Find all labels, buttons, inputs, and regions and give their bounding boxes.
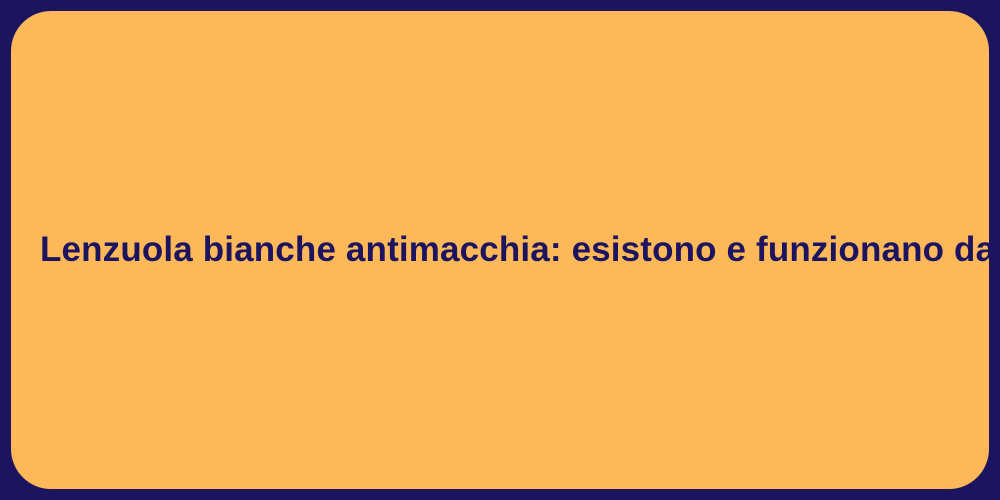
content-card: Lenzuola bianche antimacchia: esistono e… [11,11,989,489]
banner-frame: Lenzuola bianche antimacchia: esistono e… [0,0,1000,500]
page-title: Lenzuola bianche antimacchia: esistono e… [11,230,989,270]
